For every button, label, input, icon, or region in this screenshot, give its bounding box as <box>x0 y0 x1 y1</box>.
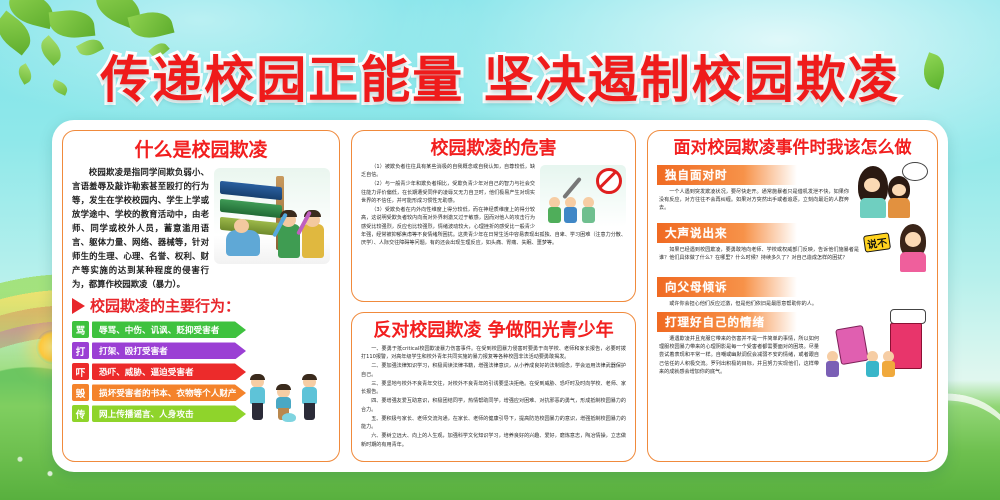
section-alone: 独自面对时 一个人遇到突发欺凌状况，要尽快走开。通常施暴者只是借机发泄不快，如果… <box>657 162 928 220</box>
figure-f <box>882 351 895 377</box>
figure-b <box>564 197 577 223</box>
student-figure-1 <box>250 376 265 420</box>
behavior-label: 辱骂、中伤、讥讽、贬抑受害者 <box>92 321 246 338</box>
harm-illustration <box>540 165 626 227</box>
weapon-icon <box>562 177 582 199</box>
subhead-alone: 独自面对时 <box>657 165 797 185</box>
panel-what-is-bullying: 什么是校园欺凌 校园欺凌是指同学间欺负弱小、言语羞辱及敲诈勒索甚至殴打的行为等，… <box>62 130 340 462</box>
figure-e <box>866 351 879 377</box>
students-illustration <box>246 321 330 422</box>
bully-figure-2 <box>302 224 324 258</box>
behavior-key: 毁 <box>72 384 89 401</box>
behavior-key: 骂 <box>72 321 89 338</box>
poster-canvas: 传递校园正能量 坚决遏制校园欺凌 什么是校园欺凌 校园欺凌是指 <box>0 0 1000 500</box>
content-board: 什么是校园欺凌 校园欺凌是指同学间欺负弱小、言语羞辱及敲诈勒索甚至殴打的行为等，… <box>52 120 948 472</box>
left-column: 什么是校园欺凌 校园欺凌是指同学间欺负弱小、言语羞辱及敲诈勒索甚至殴打的行为等，… <box>62 130 340 462</box>
behavior-key: 打 <box>72 342 89 359</box>
figure-d <box>826 351 839 377</box>
sign-icon-1 <box>220 181 282 201</box>
subhead-speak-out: 大声说出来 <box>657 223 797 243</box>
panel-title-harm: 校园欺凌的危害 <box>361 139 626 159</box>
paragraph: 三、要坚地与校外不良青年交往，对校外不良青年的引诱要坚决拒绝。在受到威胁、恐吓时… <box>361 380 626 397</box>
paragraph: 二、要加强法律知识学习，积极阅读法律书籍，增强法律意识，从小养成良好的法制观念，… <box>361 362 626 379</box>
behavior-label: 恐吓、威胁、逼迫受害者 <box>92 363 246 380</box>
subhead-tell-parents: 向父母倾诉 <box>657 277 797 297</box>
behavior-row: 打打架、殴打受害者 <box>72 342 246 359</box>
speech-bubble <box>902 162 928 181</box>
section-manage-emotions: 打理好自己的情绪 遭遇欺凌并且克服它带来的伤害并不是一件简单的事情，所以如何理服… <box>657 309 928 381</box>
behavior-key: 吓 <box>72 363 89 380</box>
panel-title-oppose: 反对校园欺凌 争做阳光青少年 <box>361 321 626 341</box>
sign-icon-2 <box>220 199 282 219</box>
student-figure-3 <box>302 376 317 420</box>
poster-title: 传递校园正能量 坚决遏制校园欺凌 <box>0 40 1000 112</box>
text-tell-parents: 或许你会担心他们反应过激，但是他们依旧是最愿意帮助你的人。 <box>659 300 926 308</box>
panel-title-what-to-do: 面对校园欺凌事件时我该怎么做 <box>657 139 928 158</box>
paragraph: 一、要勇于抵critical校园欺凌暴力伤害事件。在受到校园暴力侵害时要勇于向学… <box>361 345 626 362</box>
panel-what-to-do: 面对校园欺凌事件时我该怎么做 独自面对时 一个人遇到突发欺凌状况，要尽快走开。通… <box>647 130 938 462</box>
panel-oppose: 反对校园欺凌 争做阳光青少年 一、要勇于抵critical校园欺凌暴力伤害事件。… <box>351 312 636 462</box>
behaviors-heading: 校园欺凌的主要行为： <box>72 295 330 316</box>
paragraph: 六、要树立远大、向上的人生观，加强科学文化知识学习，培养良好的兴趣、爱好，磨炼意… <box>361 432 626 449</box>
say-no-badge: 说不 <box>863 232 891 252</box>
victim-figure <box>226 230 260 256</box>
behavior-row: 吓恐吓、威胁、逼迫受害者 <box>72 363 246 380</box>
bullying-illustration <box>214 168 330 264</box>
behavior-row: 骂辱骂、中伤、讥讽、贬抑受害者 <box>72 321 246 338</box>
behavior-row: 毁损坏受害者的书本、衣物等个人财产 <box>72 384 246 401</box>
section-tell-parents: 向父母倾诉 或许你会担心他们反应过激，但是他们依旧是最愿意帮助你的人。 <box>657 274 928 308</box>
behavior-label: 打架、殴打受害者 <box>92 342 246 359</box>
bully-figure-1 <box>278 224 300 258</box>
alone-illustration <box>854 162 928 218</box>
figure-c <box>582 197 595 223</box>
paragraph: 四、要增强友爱互助意识，积极团结同学，热情帮助同学，增强应对困难、对抗邪恶的勇气… <box>361 397 626 414</box>
ball-icon <box>282 413 296 422</box>
oppose-text: 一、要勇于抵critical校园欺凌暴力伤害事件。在受到校园暴力侵害时要勇于向学… <box>361 345 626 449</box>
section-speak-out: 说不 大声说出来 如果已经遇到校园欺凌，要勇敢地向老师、学校或权威部门反映，告诉… <box>657 220 928 274</box>
behavior-row: 传网上传播谣言、人身攻击 <box>72 405 246 422</box>
middle-column: 校园欺凌的危害 （1）被欺负者往往具有某些消极的自我概念或自我认知，自尊较低，缺… <box>351 130 636 462</box>
figure-a <box>548 197 561 223</box>
emotions-illustration <box>824 309 928 379</box>
behavior-key: 传 <box>72 405 89 422</box>
panel-harm: 校园欺凌的危害 （1）被欺负者往往具有某些消极的自我概念或自我认知，自尊较低，缺… <box>351 130 636 302</box>
behavior-label: 损坏受害者的书本、衣物等个人财产 <box>92 384 246 401</box>
paragraph: 五、要积极与家长、老师交流沟通，在家长、老师的健康引导下，提高防范校园暴力的意识… <box>361 415 626 432</box>
speak-out-illustration: 说不 <box>864 220 928 272</box>
behaviors-list: 骂辱骂、中伤、讥讽、贬抑受害者打打架、殴打受害者吓恐吓、威胁、逼迫受害者毁损坏受… <box>72 321 246 422</box>
prohibition-icon <box>596 168 622 194</box>
triangle-icon <box>72 298 85 314</box>
behaviors-area: 骂辱骂、中伤、讥讽、贬抑受害者打打架、殴打受害者吓恐吓、威胁、逼迫受害者毁损坏受… <box>72 321 330 422</box>
panel-title-what-is: 什么是校园欺凌 <box>72 140 330 161</box>
speech-bubble-2 <box>890 309 926 324</box>
right-column: 面对校园欺凌事件时我该怎么做 独自面对时 一个人遇到突发欺凌状况，要尽快走开。通… <box>647 130 938 462</box>
phone-icon <box>835 325 869 365</box>
subhead-manage-emotions: 打理好自己的情绪 <box>657 312 797 332</box>
behavior-label: 网上传播谣言、人身攻击 <box>92 405 246 422</box>
